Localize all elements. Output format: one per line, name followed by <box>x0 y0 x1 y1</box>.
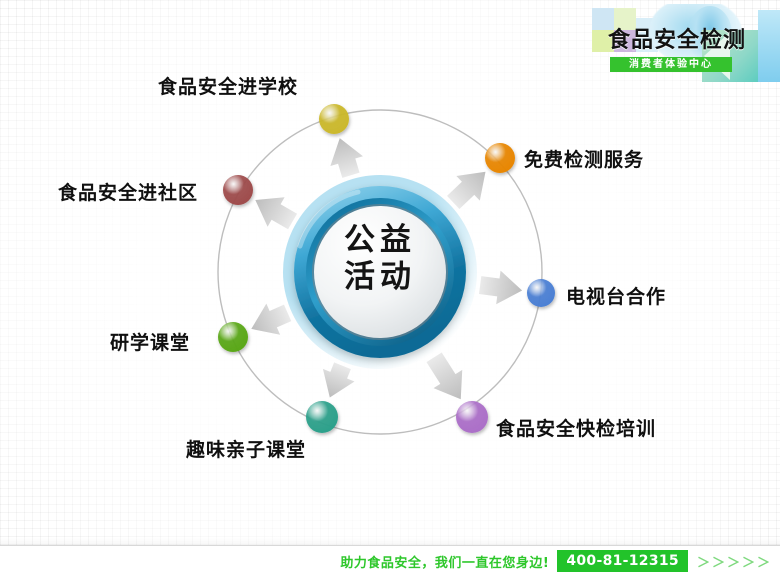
node-label-6: 研学课堂 <box>110 328 190 355</box>
node-circle-4[interactable] <box>456 401 488 433</box>
node-circle-5[interactable] <box>306 401 338 433</box>
center-label-line2: 活动 <box>300 259 460 296</box>
node-circle-6[interactable] <box>218 322 248 352</box>
footer-bar: 助力食品安全，我们一直在您身边! 400-81-12315 ＞＞＞＞＞ <box>0 546 780 576</box>
node-circle-2[interactable] <box>485 143 515 173</box>
node-circle-1[interactable] <box>319 104 349 134</box>
node-label-3: 电视台合作 <box>566 282 666 309</box>
arrow-to-node-3 <box>478 268 524 307</box>
footer-phone-badge[interactable]: 400-81-12315 <box>557 550 688 572</box>
footer-arrows-icon: ＞＞＞＞＞ <box>697 552 772 571</box>
node-label-4: 食品安全快检培训 <box>496 414 656 441</box>
node-label-5: 趣味亲子课堂 <box>186 435 306 462</box>
node-label-1: 食品安全进学校 <box>158 72 298 99</box>
node-circle-3[interactable] <box>527 279 555 307</box>
arrow-to-node-4 <box>420 348 475 408</box>
center-label-line1: 公益 <box>300 222 460 259</box>
node-label-2: 免费检测服务 <box>524 145 644 172</box>
node-circle-7[interactable] <box>223 175 253 205</box>
center-label: 公益 活动 <box>300 222 460 295</box>
arrow-to-node-6 <box>244 297 294 344</box>
footer-shadow <box>0 538 780 545</box>
arrow-to-node-5 <box>314 359 358 403</box>
arrow-to-node-7 <box>247 185 301 236</box>
footer-slogan: 助力食品安全，我们一直在您身边! <box>340 552 549 571</box>
node-label-7: 食品安全进社区 <box>58 178 198 205</box>
arrow-to-node-1 <box>323 133 367 180</box>
